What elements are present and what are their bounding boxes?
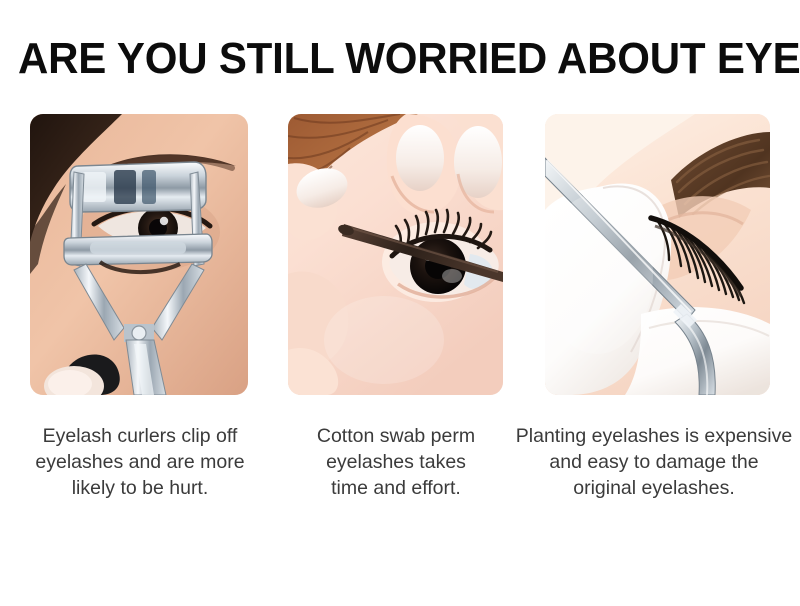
- caption-row: Eyelash curlers clip off eyelashes and a…: [0, 423, 800, 513]
- panel-image-lash-extensions: [545, 114, 770, 395]
- caption-lash-extensions: Planting eyelashes is expensive and easy…: [508, 423, 800, 501]
- caption-line: eyelashes and are more: [12, 449, 268, 475]
- caption-line: original eyelashes.: [508, 475, 800, 501]
- caption-eyelash-curler: Eyelash curlers clip off eyelashes and a…: [12, 423, 268, 501]
- caption-line: likely to be hurt.: [12, 475, 268, 501]
- cotton-swab-illustration: [288, 114, 503, 395]
- image-card-row: [30, 114, 770, 395]
- caption-line: Planting eyelashes is expensive: [508, 423, 800, 449]
- caption-line: Eyelash curlers clip off: [12, 423, 268, 449]
- lash-extension-illustration: [545, 114, 770, 395]
- caption-line: time and effort.: [278, 475, 514, 501]
- caption-line: Cotton swab perm: [278, 423, 514, 449]
- panel-image-cotton-swab-perm: [288, 114, 503, 395]
- caption-line: eyelashes takes: [278, 449, 514, 475]
- caption-cotton-swab-perm: Cotton swab perm eyelashes takes time an…: [278, 423, 514, 501]
- eyelash-curler-illustration: [30, 114, 248, 395]
- caption-line: and easy to damage the: [508, 449, 800, 475]
- panel-image-eyelash-curler: [30, 114, 248, 395]
- promo-banner: ARE YOU STILL WORRIED ABOUT EYELASHES?: [0, 0, 800, 606]
- page-title: ARE YOU STILL WORRIED ABOUT EYELASHES?: [18, 34, 782, 84]
